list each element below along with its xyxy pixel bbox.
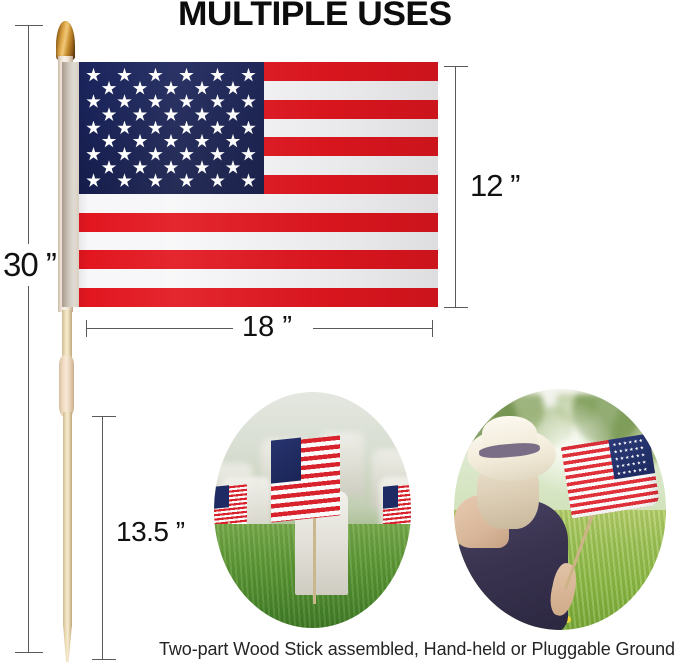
flag-star [179,68,194,83]
dim-18-line-left [86,328,233,329]
dim-18-cap-right [432,320,433,337]
flag-stripe [62,232,438,251]
flag-star [117,121,132,136]
flag-star [633,468,638,473]
flag-star [210,121,225,136]
flag-stripe [62,269,438,288]
main-mini-flag [271,439,340,519]
flag-star [195,81,210,96]
pole-finial-icon [56,21,75,61]
flag-star [616,464,621,469]
flag-star [179,121,194,136]
flag-star [148,147,163,162]
dim-135-line [102,416,103,660]
flag-star [636,453,641,458]
flag-star [210,94,225,109]
flag-star [148,94,163,109]
flag-star [613,442,618,447]
flag-star [195,134,210,149]
flag-star [148,68,163,83]
flag-stripe [62,213,438,232]
flag-star [117,94,132,109]
flag-star [625,455,630,460]
flag-star [86,94,101,109]
dim-18-line-right [313,328,432,329]
mini-flag-left [214,486,247,526]
flag-star [133,160,148,175]
flag-star [102,107,117,122]
flag-star [638,467,643,472]
product-infographic: MULTIPLE USES 30 ” 12 ” 18 ” 13.5 ” [0,0,679,666]
flag-star [621,463,626,468]
flag-star [622,470,627,475]
flag-star [86,173,101,188]
flag-star [133,81,148,96]
flag-star [117,147,132,162]
flag-star [241,68,256,83]
flag-star [86,68,101,83]
pole-lower-section [63,412,72,627]
flag-canton [78,62,264,194]
dim-30-cap-bottom [15,652,43,653]
flag-star [133,107,148,122]
dim-12-label: 12 ” [470,168,519,204]
flag-star [117,68,132,83]
flag-star [241,94,256,109]
dim-12-cap-top [444,66,468,67]
flag-star [226,134,241,149]
dim-12-line [455,66,456,308]
flag-stripe [62,250,438,269]
dim-30-label: 30 ” [2,244,57,286]
dim-30-cap-top [15,25,43,26]
flag-stripe [62,288,438,307]
usa-flag [62,62,438,307]
dim-135-cap-bottom [92,659,116,660]
dim-135-label: 13.5 ” [116,516,185,548]
flag-star [210,68,225,83]
flag-star [241,173,256,188]
flag-star [637,460,642,465]
flag-star [623,440,628,445]
flag-star [634,439,639,444]
flag-star [179,173,194,188]
flag-star [226,81,241,96]
flag-star [642,459,647,464]
flag-star [639,438,644,443]
flag-star [102,160,117,175]
flag-star [635,446,640,451]
flag-star [241,121,256,136]
flag-star [226,160,241,175]
photo-cemetery-memorial [214,392,411,628]
flag-star [102,81,117,96]
pole-pointed-tip [63,624,72,662]
flag-star [210,173,225,188]
dim-12-cap-bottom [444,307,468,308]
photo-woman-holding-flag [454,389,666,630]
flag-star [179,147,194,162]
flag-stars [78,62,264,194]
flag-star [195,160,210,175]
flag-star [133,134,148,149]
page-title: MULTIPLE USES [178,0,452,34]
flag-star [179,94,194,109]
flag-star [626,462,631,467]
flag-star [148,173,163,188]
flag-star [614,449,619,454]
mini-flag-right [383,486,411,526]
flag-star [629,447,634,452]
dim-30-line [28,25,29,653]
flag-star [631,454,636,459]
flag-star [164,107,179,122]
flag-star [164,81,179,96]
flag-star [620,456,625,461]
flag-star [117,173,132,188]
flag-star [164,134,179,149]
flag-star [624,447,629,452]
flag-star [628,439,633,444]
dim-135-cap-top [92,416,116,417]
flag-star [102,134,117,149]
pole-joint-sleeve [59,355,74,417]
flag-star [86,121,101,136]
flag-star [148,121,163,136]
flag-star [226,107,241,122]
caption-text: Two-part Wood Stick assembled, Hand-held… [159,639,675,660]
flag-star [619,448,624,453]
flag-star [643,467,648,472]
flag-star [618,441,623,446]
flag-star [615,456,620,461]
flag-star [640,445,645,450]
held-usa-flag [561,433,660,518]
flag-hoist-sleeve [62,62,79,307]
flag-star [86,147,101,162]
flag-star [241,147,256,162]
flag-star [617,471,622,476]
flag-star [628,469,633,474]
flag-stripe [62,194,438,213]
flag-star [195,107,210,122]
flag-star [210,147,225,162]
flag-star [641,452,646,457]
dim-18-label: 18 ” [242,311,292,344]
flag-star [632,461,637,466]
flag-star [164,160,179,175]
